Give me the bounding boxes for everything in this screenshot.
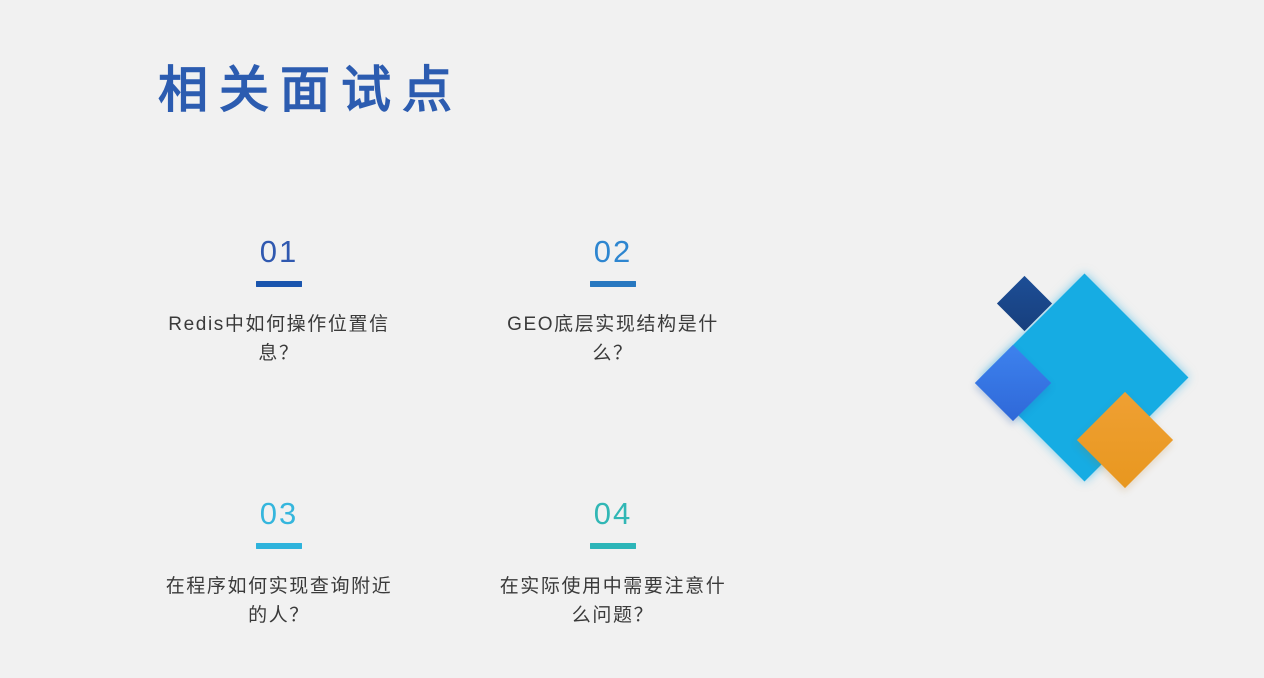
item-rule-02 (590, 281, 636, 287)
item-number-03: 03 (154, 498, 404, 529)
item-rule-03 (256, 543, 302, 549)
item-number-04: 04 (488, 498, 738, 529)
item-rule-01 (256, 281, 302, 287)
item-number-01: 01 (154, 236, 404, 267)
decorative-diamond-cluster (960, 255, 1210, 505)
item-text-01: Redis中如何操作位置信息？ (154, 311, 404, 369)
list-item-02: 02 GEO底层实现结构是什么？ (488, 236, 738, 369)
list-item-01: 01 Redis中如何操作位置信息？ (154, 236, 404, 369)
item-rule-04 (590, 543, 636, 549)
item-number-02: 02 (488, 236, 738, 267)
list-item-03: 03 在程序如何实现查询附近的人？ (154, 498, 404, 631)
list-item-04: 04 在实际使用中需要注意什么问题？ (488, 498, 738, 631)
item-text-02: GEO底层实现结构是什么？ (488, 311, 738, 369)
presentation-slide: 相关面试点 01 Redis中如何操作位置信息？ 02 GEO底层实现结构是什么… (0, 0, 1264, 678)
page-title: 相关面试点 (158, 62, 463, 120)
item-text-03: 在程序如何实现查询附近的人？ (154, 573, 404, 631)
item-text-04: 在实际使用中需要注意什么问题？ (488, 573, 738, 631)
